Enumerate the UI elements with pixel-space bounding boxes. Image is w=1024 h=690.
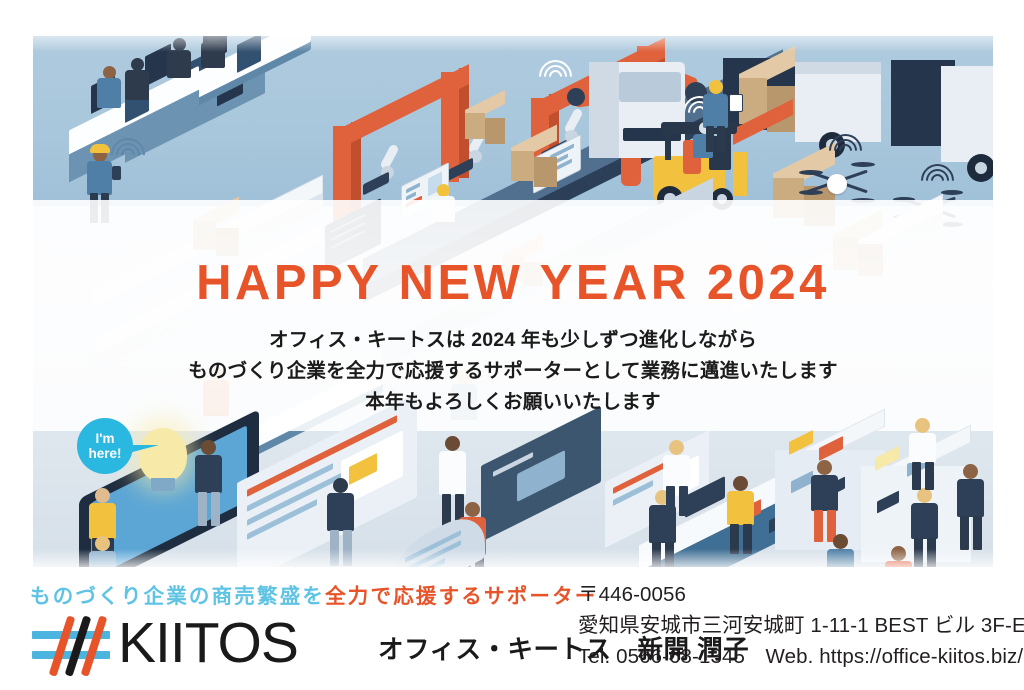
tagline-blue-part: ものづくり企業の商売繁盛 [30, 585, 302, 608]
company-tagline: ものづくり企業の商売繁盛を全力で応援するサポーター [30, 579, 598, 609]
im-here-badge: I'm here! [77, 418, 133, 474]
message-line-1: オフィス・キートスは 2024 年も少しずつ進化しながら [33, 325, 993, 356]
footer: ものづくり企業の商売繁盛を全力で応援するサポーター KIITOS オフィス・キー… [0, 567, 1024, 690]
greeting-message: オフィス・キートスは 2024 年も少しずつ進化しながら ものづくり企業を全力で… [33, 325, 993, 418]
tagline-orange-part: 全力で応援するサポーター [325, 585, 597, 608]
page-title: HAPPY NEW YEAR 2024 [33, 255, 993, 311]
badge-line-2: here! [88, 446, 121, 461]
contact-block: 〒446-0056 愛知県安城市三河安城町 1-11-1 BEST ビル 3F-… [578, 579, 1024, 672]
truck-cargo-body [941, 66, 993, 162]
truck-cargo-body [795, 62, 881, 142]
message-line-3: 本年もよろしくお願いいたします [33, 387, 993, 418]
truck-side [589, 62, 619, 158]
kiitos-logo-icon [28, 615, 114, 677]
im-here-badge-text: I'm here! [88, 431, 121, 461]
street-address: 愛知県安城市三河安城町 1-11-1 BEST ビル 3F-E [578, 610, 1024, 641]
logo-wordmark: KIITOS [118, 615, 298, 672]
new-year-greeting-card: I'm here! HAPPY NEW YEAR 2024 オフィス・キートスは… [0, 0, 1024, 690]
illustration-canvas: I'm here! HAPPY NEW YEAR 2024 オフィス・キートスは… [33, 36, 993, 567]
message-line-2: ものづくり企業を全力で応援するサポーターとして業務に邁進いたします [33, 356, 993, 387]
truck-wheel [967, 154, 993, 182]
truck-roof [795, 62, 881, 74]
top-fade [33, 36, 993, 52]
tel-and-web: Tel. 0566-68-1345 Web. https://office-ki… [578, 641, 1024, 672]
badge-line-1: I'm [96, 431, 115, 446]
tagline-particle: を [302, 585, 325, 608]
lightbulb-base [151, 478, 175, 491]
lightbulb-icon [139, 428, 187, 482]
postal-code: 〒446-0056 [578, 579, 1024, 610]
bottom-fade [33, 549, 993, 567]
truck-windshield [619, 72, 681, 102]
